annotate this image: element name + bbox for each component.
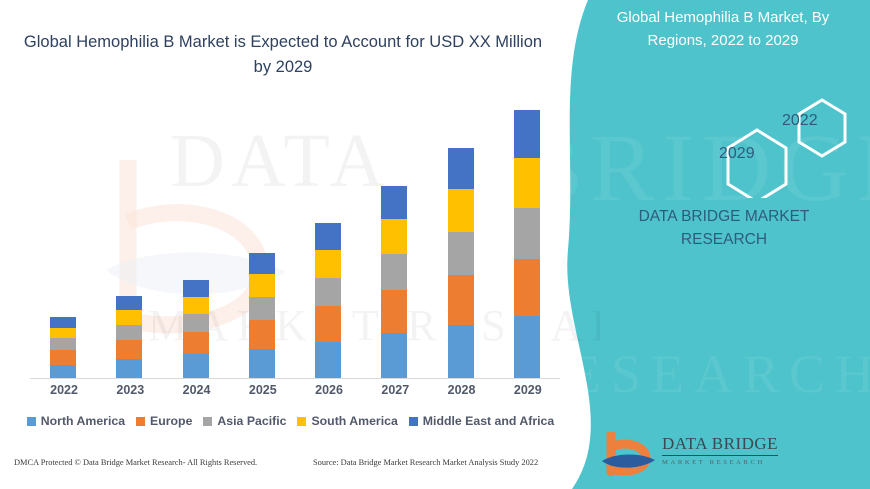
bar-segment xyxy=(249,297,275,321)
bar-segment xyxy=(183,280,209,297)
footer: DMCA Protected © Data Bridge Market Rese… xyxy=(0,458,580,478)
x-axis-tick: 2027 xyxy=(381,383,407,405)
bar-segment xyxy=(50,350,76,365)
bar-segment xyxy=(183,354,209,378)
bar-column xyxy=(514,110,540,378)
bar-segment xyxy=(381,254,407,290)
x-axis-tick: 2025 xyxy=(249,383,275,405)
bar-segment xyxy=(183,332,209,354)
legend-label: Europe xyxy=(150,414,192,428)
bar-segment xyxy=(183,314,209,332)
legend-item[interactable]: Middle East and Africa xyxy=(409,414,554,428)
x-axis-tick: 2029 xyxy=(514,383,540,405)
bar-segment xyxy=(514,158,540,208)
x-axis-tick: 2023 xyxy=(116,383,142,405)
logo-title: DATA BRIDGE xyxy=(662,434,778,456)
bar-segment xyxy=(249,253,275,274)
bar-segment xyxy=(50,328,76,339)
bar-segment xyxy=(448,232,474,276)
bar-segment xyxy=(315,278,341,307)
x-axis-tick: 2028 xyxy=(448,383,474,405)
panel-title: Global Hemophilia B Market, By Regions, … xyxy=(598,6,848,53)
bar-segment xyxy=(116,296,142,310)
bar-segment xyxy=(249,320,275,349)
bar-segment xyxy=(448,189,474,232)
bar-segment xyxy=(514,316,540,378)
infographic-root: BRIDGE RESEARCH DATA MARKET RESEARCH Glo… xyxy=(0,0,870,489)
legend-item[interactable]: South America xyxy=(297,414,397,428)
bar-segment xyxy=(116,310,142,325)
hexagon-2029-label: 2029 xyxy=(719,145,755,163)
footer-source: Source: Data Bridge Market Research Mark… xyxy=(313,458,538,467)
legend-label: Asia Pacific xyxy=(217,414,286,428)
logo-mark-icon xyxy=(600,432,658,476)
bar-column xyxy=(381,186,407,378)
footer-copyright: DMCA Protected © Data Bridge Market Rese… xyxy=(14,458,257,467)
bar-segment xyxy=(448,275,474,324)
bar-segment xyxy=(249,349,275,378)
bar-segment xyxy=(381,290,407,333)
bar-column xyxy=(50,317,76,378)
svg-text:RESEARCH: RESEARCH xyxy=(550,344,870,404)
legend-item[interactable]: Asia Pacific xyxy=(203,414,286,428)
hexagon-2029-icon xyxy=(728,130,786,198)
panel-brand: DATA BRIDGE MARKET RESEARCH xyxy=(594,205,854,252)
bar-segment xyxy=(381,186,407,219)
legend-swatch-icon xyxy=(27,417,36,426)
x-axis-tick: 2022 xyxy=(50,383,76,405)
legend-swatch-icon xyxy=(297,417,306,426)
x-axis-labels: 20222023202420252026202720282029 xyxy=(30,383,560,405)
chart-plot-area xyxy=(30,100,560,379)
hexagon-group: 2029 2022 xyxy=(662,98,852,198)
bar-column xyxy=(448,148,474,378)
bar-group xyxy=(30,100,560,378)
legend-swatch-icon xyxy=(136,417,145,426)
bar-segment xyxy=(116,340,142,359)
bar-segment xyxy=(50,365,76,378)
bar-column xyxy=(183,280,209,378)
legend-item[interactable]: North America xyxy=(27,414,125,428)
company-logo: DATA BRIDGE MARKET RESEARCH xyxy=(600,432,780,478)
bar-segment xyxy=(448,325,474,378)
x-axis-tick: 2024 xyxy=(183,383,209,405)
legend-item[interactable]: Europe xyxy=(136,414,192,428)
bar-segment xyxy=(514,110,540,158)
bar-segment xyxy=(315,223,341,250)
bar-segment xyxy=(50,338,76,350)
bar-segment xyxy=(315,342,341,378)
chart-title: Global Hemophilia B Market is Expected t… xyxy=(18,30,548,80)
legend-label: Middle East and Africa xyxy=(423,414,554,428)
bar-column xyxy=(249,253,275,378)
x-axis-tick: 2026 xyxy=(315,383,341,405)
bar-segment xyxy=(315,306,341,341)
bar-segment xyxy=(116,359,142,378)
bar-segment xyxy=(116,325,142,340)
legend-swatch-icon xyxy=(409,417,418,426)
bar-segment xyxy=(514,259,540,316)
bar-segment xyxy=(249,274,275,296)
legend-swatch-icon xyxy=(203,417,212,426)
bar-column xyxy=(315,223,341,378)
bar-segment xyxy=(514,208,540,259)
hexagon-2022-label: 2022 xyxy=(782,112,818,130)
chart-legend: North AmericaEuropeAsia PacificSouth Ame… xyxy=(18,414,563,428)
legend-label: North America xyxy=(41,414,125,428)
bar-segment xyxy=(50,317,76,328)
bar-segment xyxy=(315,250,341,278)
bar-segment xyxy=(381,333,407,378)
bar-segment xyxy=(381,219,407,254)
bar-segment xyxy=(448,148,474,189)
axis-baseline xyxy=(30,378,560,379)
logo-text-block: DATA BRIDGE MARKET RESEARCH xyxy=(662,434,778,466)
legend-label: South America xyxy=(311,414,397,428)
bar-segment xyxy=(183,297,209,314)
logo-subtitle: MARKET RESEARCH xyxy=(662,459,778,466)
bar-column xyxy=(116,296,142,378)
